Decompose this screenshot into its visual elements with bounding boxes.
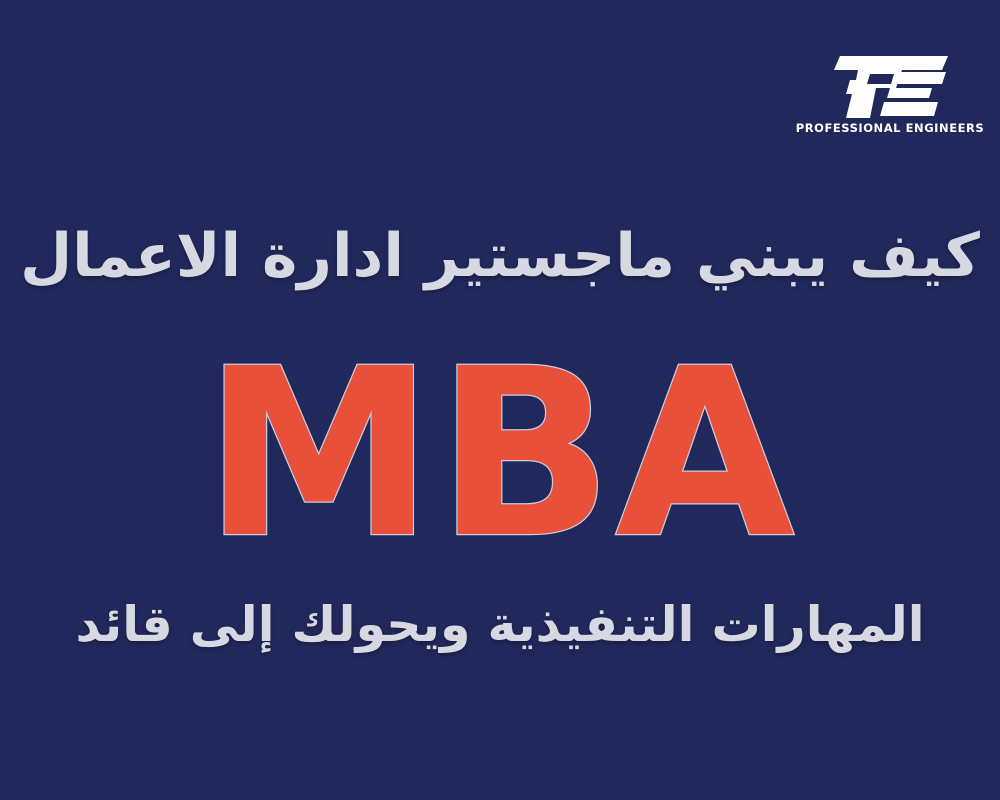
headline: كيف يبني ماجستير ادارة الاعمال (0, 222, 1000, 291)
logo-wordmark: PROFESSIONAL ENGINEERS (796, 123, 985, 135)
subtitle: المهارات التنفيذية ويحولك إلى قائد (0, 596, 1000, 655)
brand-logo: PROFESSIONAL ENGINEERS (815, 54, 965, 135)
promo-banner: PROFESSIONAL ENGINEERS كيف يبني ماجستير … (0, 0, 1000, 800)
hero-word-mba: MBA (203, 338, 796, 570)
hero-word-container: MBA (0, 338, 1000, 570)
pe-monogram-icon (824, 54, 956, 120)
